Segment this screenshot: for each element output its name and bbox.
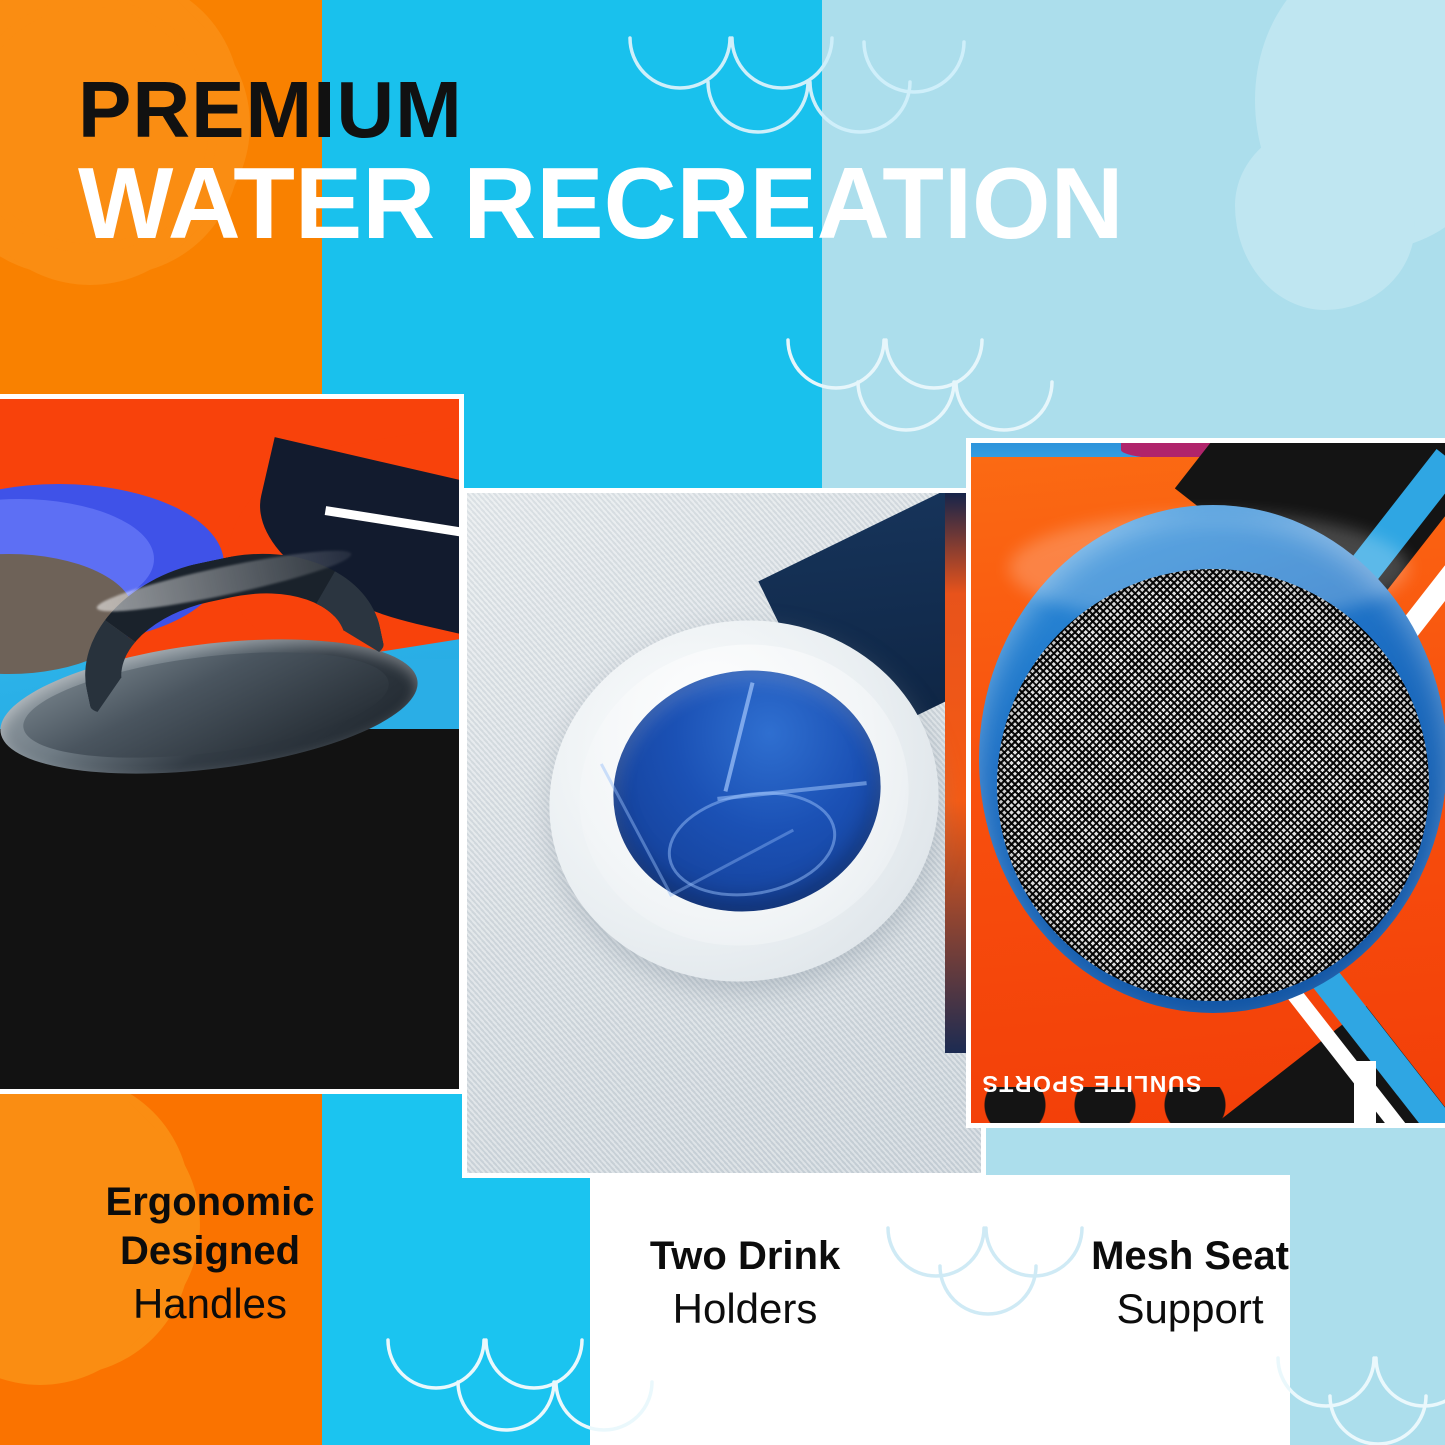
- black-foreground: [0, 729, 459, 1089]
- photo-cup-content: [467, 493, 981, 1173]
- black-bar-accent: [1300, 1061, 1334, 1123]
- feature-caption-handles: Ergonomic Designed Handles: [30, 1178, 390, 1330]
- feature-title-drink-holders: Two Drink: [560, 1232, 930, 1281]
- feature-title-mesh-seat: Mesh Seat: [1000, 1232, 1380, 1281]
- feature-caption-drink-holders: Two Drink Holders: [560, 1232, 930, 1335]
- headline-line-2: WATER RECREATION: [78, 155, 1418, 254]
- feature-subtitle-mesh-seat: Support: [1000, 1283, 1380, 1336]
- photo-ergonomic-handle: [0, 394, 464, 1094]
- feature-subtitle-handles: Handles: [30, 1278, 390, 1331]
- white-bar-accent: [1354, 1061, 1376, 1123]
- photo-cup-holder: [462, 488, 986, 1178]
- photo-handle-content: [0, 399, 459, 1089]
- brand-strip: SUNLITE SPORTS: [971, 1031, 1445, 1123]
- headline-block: PREMIUM WATER RECREATION: [78, 72, 1418, 254]
- feature-title-handles: Ergonomic Designed: [30, 1178, 390, 1276]
- brand-name-text: SUNLITE SPORTS: [981, 1070, 1201, 1097]
- feature-subtitle-drink-holders: Holders: [560, 1283, 930, 1336]
- headline-line-1: PREMIUM: [78, 72, 1418, 149]
- photo-mesh-seat: SUNLITE SPORTS: [966, 438, 1445, 1128]
- photo-mesh-content: SUNLITE SPORTS: [971, 443, 1445, 1123]
- infographic-canvas: PREMIUM WATER RECREATION: [0, 0, 1445, 1445]
- mesh-seat-fabric: [997, 569, 1429, 1001]
- feature-caption-mesh-seat: Mesh Seat Support: [1000, 1232, 1380, 1335]
